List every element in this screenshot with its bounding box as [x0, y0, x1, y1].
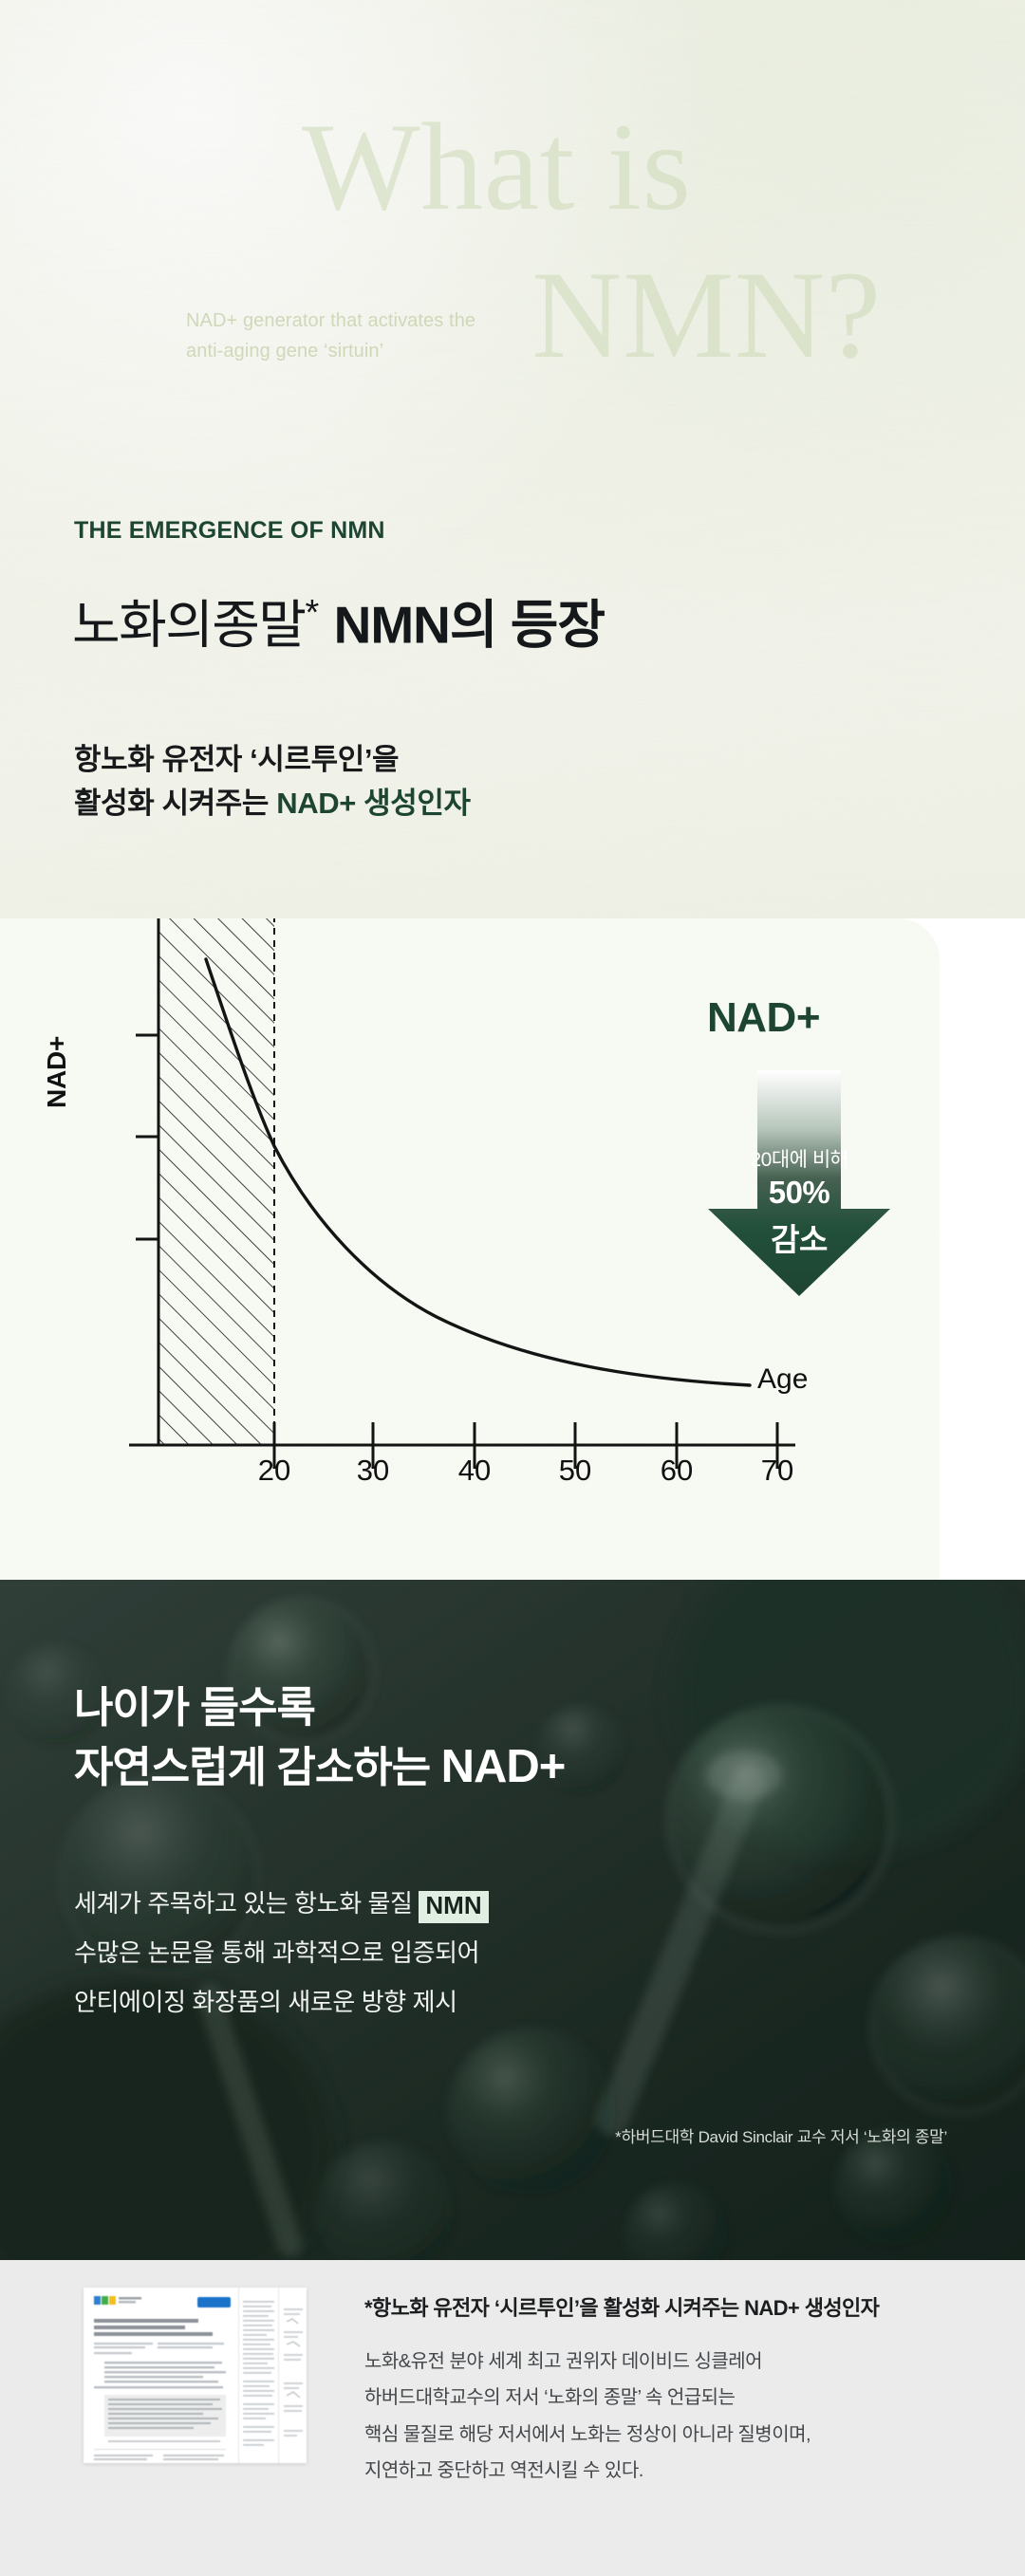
chart-xtick-label: 30	[345, 1454, 401, 1488]
feature-body-line3: 안티에이징 화장품의 새로운 방향 제시	[74, 1988, 457, 2016]
page-subtitle-line2-plain: 활성화 시켜주는	[74, 787, 276, 820]
feature-footnote: *하버드대학 David Sinclair 교수 저서 ‘노화의 종말’	[615, 2123, 947, 2147]
hero-subcaption: NAD+ generator that activates the anti-a…	[186, 306, 475, 367]
hero-watermark-line1: What is	[302, 104, 691, 230]
feature-heading-line2-em: NAD+	[441, 1741, 566, 1792]
reference-body-line3: 핵심 물질로 해당 저서에서 노화는 정상이 아니라 질병이며,	[364, 2424, 811, 2445]
chart-xtick-label: 20	[246, 1454, 303, 1488]
paper-thumbnail-image	[84, 2288, 307, 2463]
page-title-bold: NMN의 등장	[334, 595, 605, 654]
nmn-highlight-chip: NMN	[419, 1891, 488, 1923]
page-subtitle: 항노화 유전자 ‘시르투인’을 활성화 시켜주는 NAD+ 생성인자	[74, 738, 471, 825]
hero-section: What is NMN? NAD+ generator that activat…	[0, 0, 1025, 918]
page-title: 노화의종말* NMN의 등장	[72, 593, 605, 655]
chart-decay-curve	[206, 959, 750, 1385]
page-title-asterisk: *	[306, 593, 320, 633]
reference-title: *항노화 유전자 ‘시르투인’을 활성화 시켜주는 NAD+ 생성인자	[364, 2291, 879, 2322]
chart-xtick-label: 50	[547, 1454, 604, 1488]
page-subtitle-line1: 항노화 유전자 ‘시르투인’을	[74, 743, 399, 776]
page-title-light: 노화의종말	[72, 595, 306, 654]
chart-hatched-region	[158, 918, 274, 1445]
chart-y-axis-label: NAD+	[42, 1036, 72, 1108]
section-eyebrow: THE EMERGENCE OF NMN	[74, 517, 385, 545]
feature-heading-line2-pre: 자연스럽게 감소하는	[74, 1743, 441, 1791]
chart-nad-callout-label: NAD+	[707, 994, 820, 1042]
reference-body-line2: 하버드대학교수의 저서 ‘노화의 종말’ 속 언급되는	[364, 2387, 735, 2408]
research-paper-thumbnail[interactable]	[84, 2288, 307, 2463]
nad-decline-arrow: 20대에 비해 50% 감소	[704, 1070, 894, 1296]
reference-body-line1: 노화&유전 분야 세계 최고 권위자 데이비드 싱클레어	[364, 2351, 762, 2372]
chart-x-axis-label: Age	[757, 1363, 808, 1396]
down-arrow-icon	[704, 1070, 894, 1296]
chart-xtick-label: 40	[446, 1454, 503, 1488]
reference-body: 노화&유전 분야 세계 최고 권위자 데이비드 싱클레어 하버드대학교수의 저서…	[364, 2344, 811, 2490]
hero-subcaption-line2: anti-aging gene ‘sirtuin’	[186, 336, 475, 366]
reference-body-line4: 지연하고 중단하고 역전시킬 수 있다.	[364, 2460, 643, 2481]
page-subtitle-line2-accent: NAD+ 생성인자	[276, 787, 470, 820]
chart-xtick-label: 70	[749, 1454, 806, 1488]
feature-body-line2: 수많은 논문을 통해 과학적으로 입증되어	[74, 1938, 479, 1967]
feature-heading: 나이가 들수록 자연스럽게 감소하는 NAD+	[74, 1679, 565, 1798]
hero-watermark-line2: NMN?	[531, 252, 882, 378]
product-detail-page: What is NMN? NAD+ generator that activat…	[0, 0, 1025, 2576]
feature-heading-line1: 나이가 들수록	[74, 1683, 315, 1732]
hero-subcaption-line1: NAD+ generator that activates the	[186, 306, 475, 336]
feature-body-line1-pre: 세계가 주목하고 있는 항노화 물질	[74, 1889, 419, 1918]
feature-body: 세계가 주목하고 있는 항노화 물질 NMN 수많은 논문을 통해 과학적으로 …	[74, 1879, 489, 2027]
chart-xtick-label: 60	[648, 1454, 705, 1488]
